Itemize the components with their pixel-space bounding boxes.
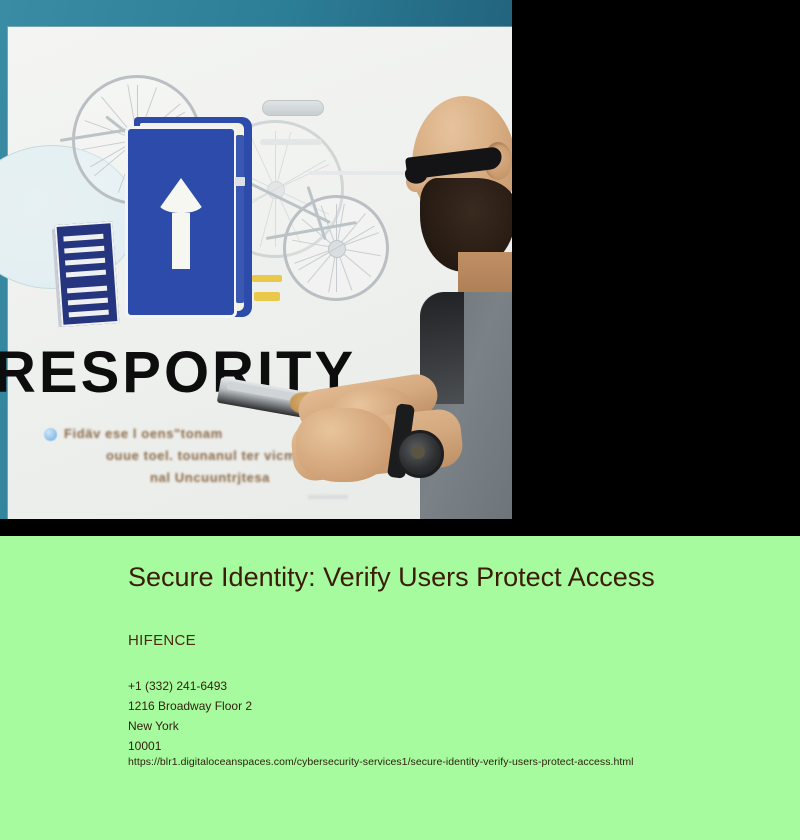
person-hand xyxy=(296,408,394,482)
street-address: 1216 Broadway Floor 2 xyxy=(128,696,728,716)
page-title: Secure Identity: Verify Users Protect Ac… xyxy=(128,562,688,593)
contact-details: +1 (332) 241-6493 1216 Broadway Floor 2 … xyxy=(128,676,728,756)
city-name: New York xyxy=(128,716,728,736)
smartwatch-icon xyxy=(396,430,444,478)
decorative-line xyxy=(260,139,322,145)
wheel-hub xyxy=(328,240,346,258)
hero-canvas: RESPORITY Fidäv ese l oens"tonam ouue to… xyxy=(0,0,800,536)
board-subtext-line-2: ouue toel. tounanul ter vicmo xyxy=(64,445,314,467)
bicycle-seat-shape xyxy=(262,100,324,116)
yellow-accent-shape xyxy=(254,292,280,301)
site-url-link[interactable]: https://blr1.digitaloceanspaces.com/cybe… xyxy=(128,756,634,768)
postal-code: 10001 xyxy=(128,736,728,756)
hero-illustration: RESPORITY Fidäv ese l oens"tonam ouue to… xyxy=(0,0,512,519)
blue-bullet-dot-icon xyxy=(44,428,57,441)
yellow-accent-shape xyxy=(252,275,282,282)
screenshot-root: RESPORITY Fidäv ese l oens"tonam ouue to… xyxy=(0,0,800,840)
board-subtext-line-1: Fidäv ese l oens"tonam xyxy=(64,423,314,445)
blue-striped-document-icon xyxy=(55,221,120,327)
wheel-spokes xyxy=(286,198,386,298)
blue-book-spine xyxy=(236,135,244,303)
brand-name: HIFENCE xyxy=(128,632,196,649)
blue-book-spine-tab xyxy=(235,177,245,186)
decorative-smudge xyxy=(308,495,348,499)
arrow-head xyxy=(156,178,206,213)
blue-book-up-arrow-icon xyxy=(125,126,237,318)
board-subtext-line-3: nal Uncuuntrjtesa xyxy=(64,467,314,489)
bicycle-wheel-icon xyxy=(283,195,389,301)
arrow-stem xyxy=(172,213,190,269)
board-subtext-block: Fidäv ese l oens"tonam ouue toel. tounan… xyxy=(64,423,314,489)
listing-info-panel: Secure Identity: Verify Users Protect Ac… xyxy=(0,536,800,840)
phone-number[interactable]: +1 (332) 241-6493 xyxy=(128,676,728,696)
